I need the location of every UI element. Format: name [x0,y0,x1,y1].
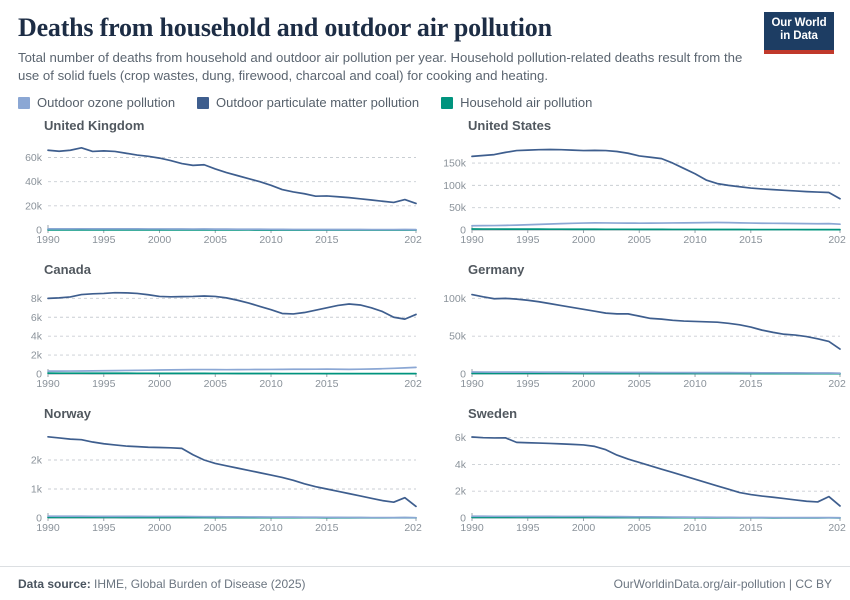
plot-area[interactable]: 050k100k1990199520002005201020152023 [434,279,846,391]
chart-panel-united-states: United States050k100k150k199019952000200… [434,116,846,260]
series-line [48,293,416,319]
x-axis-tick-label: 2005 [628,234,652,246]
series-line [48,229,416,230]
panel-title: United Kingdom [44,116,422,133]
plot-area[interactable]: 02k4k6k1990199520002005201020152023 [434,423,846,535]
series-line [48,367,416,371]
chart-legend: Outdoor ozone pollutionOutdoor particula… [0,85,850,114]
x-axis-tick-label: 2010 [259,234,283,246]
y-axis-tick-label: 150k [443,158,467,170]
x-axis-tick-label: 2000 [148,522,172,534]
x-axis-tick-label: 1990 [36,378,60,390]
y-axis-tick-label: 6k [31,312,43,324]
y-axis-tick-label: 50k [449,202,467,214]
y-axis-tick-label: 1k [31,484,43,496]
x-axis-tick-label: 2005 [204,234,228,246]
x-axis-tick-label: 1990 [36,522,60,534]
series-line [472,437,840,506]
x-axis-tick-label: 2023 [404,378,422,390]
x-axis-tick-label: 2023 [828,234,846,246]
x-axis-tick-label: 2000 [572,522,596,534]
attribution-link[interactable]: OurWorldinData.org/air-pollution | CC BY [614,577,832,591]
data-source-label: Data source: [18,577,91,591]
x-axis-tick-label: 2015 [315,378,339,390]
x-axis-tick-label: 1995 [92,522,116,534]
x-axis-tick-label: 2005 [628,522,652,534]
x-axis-tick-label: 2000 [572,378,596,390]
chart-panel-grid: United Kingdom020k40k60k1990199520002005… [0,114,850,548]
y-axis-tick-label: 100k [443,180,467,192]
y-axis-tick-label: 4k [455,459,467,471]
owid-logo[interactable]: Our World in Data [764,12,834,54]
x-axis-tick-label: 1995 [516,234,540,246]
legend-item-label: Outdoor ozone pollution [37,95,175,110]
x-axis-tick-label: 2023 [404,234,422,246]
y-axis-tick-label: 20k [25,200,43,212]
owid-logo-line1: Our World [764,17,834,30]
panel-title: Canada [44,260,422,277]
series-line [48,437,416,507]
series-line [472,150,840,199]
legend-swatch-icon [441,97,453,109]
legend-item[interactable]: Household air pollution [441,95,592,110]
x-axis-tick-label: 2000 [572,234,596,246]
x-axis-tick-label: 2000 [148,378,172,390]
plot-area[interactable]: 02k4k6k8k1990199520002005201020152023 [10,279,422,391]
chart-panel-sweden: Sweden02k4k6k199019952000200520102015202… [434,404,846,548]
x-axis-tick-label: 2015 [315,522,339,534]
y-axis-tick-label: 60k [25,152,43,164]
y-axis-tick-label: 100k [443,293,467,305]
plot-area[interactable]: 050k100k150k1990199520002005201020152023 [434,135,846,247]
chart-subtitle: Total number of deaths from household an… [18,49,763,85]
x-axis-tick-label: 2010 [683,378,707,390]
y-axis-tick-label: 2k [31,350,43,362]
chart-footer: Data source: IHME, Global Burden of Dise… [0,566,850,600]
x-axis-tick-label: 2005 [204,522,228,534]
series-line [472,223,840,226]
x-axis-tick-label: 2015 [315,234,339,246]
y-axis-tick-label: 8k [31,293,43,305]
chart-panel-united-kingdom: United Kingdom020k40k60k1990199520002005… [10,116,422,260]
legend-item[interactable]: Outdoor ozone pollution [18,95,175,110]
owid-logo-line2: in Data [764,30,834,43]
x-axis-tick-label: 1995 [516,522,540,534]
x-axis-tick-label: 2015 [739,378,763,390]
x-axis-tick-label: 2000 [148,234,172,246]
series-line [48,148,416,204]
page-title: Deaths from household and outdoor air po… [18,14,832,43]
data-source: Data source: IHME, Global Burden of Dise… [18,577,305,591]
x-axis-tick-label: 2010 [259,378,283,390]
series-line [472,295,840,349]
panel-title: Germany [468,260,846,277]
y-axis-tick-label: 40k [25,176,43,188]
x-axis-tick-label: 2015 [739,234,763,246]
plot-area[interactable]: 020k40k60k1990199520002005201020152023 [10,135,422,247]
series-line [48,373,416,374]
x-axis-tick-label: 2023 [404,522,422,534]
x-axis-tick-label: 1995 [516,378,540,390]
y-axis-tick-label: 6k [455,432,467,444]
chart-panel-canada: Canada02k4k6k8k1990199520002005201020152… [10,260,422,404]
x-axis-tick-label: 2015 [739,522,763,534]
x-axis-tick-label: 2023 [828,522,846,534]
legend-item-label: Outdoor particulate matter pollution [216,95,419,110]
plot-area[interactable]: 01k2k1990199520002005201020152023 [10,423,422,535]
x-axis-tick-label: 1990 [36,234,60,246]
y-axis-tick-label: 2k [31,455,43,467]
x-axis-tick-label: 1990 [460,234,484,246]
panel-title: Sweden [468,404,846,421]
legend-item-label: Household air pollution [460,95,592,110]
x-axis-tick-label: 2023 [828,378,846,390]
panel-title: United States [468,116,846,133]
x-axis-tick-label: 2005 [204,378,228,390]
x-axis-tick-label: 1990 [460,522,484,534]
y-axis-tick-label: 50k [449,331,467,343]
x-axis-tick-label: 2010 [683,234,707,246]
series-line [472,229,840,230]
x-axis-tick-label: 2010 [683,522,707,534]
chart-page: Deaths from household and outdoor air po… [0,0,850,600]
legend-item[interactable]: Outdoor particulate matter pollution [197,95,419,110]
legend-swatch-icon [18,97,30,109]
chart-header: Deaths from household and outdoor air po… [0,0,850,85]
data-source-text: IHME, Global Burden of Disease (2025) [94,577,305,591]
panel-title: Norway [44,404,422,421]
x-axis-tick-label: 1990 [460,378,484,390]
x-axis-tick-label: 1995 [92,378,116,390]
chart-panel-norway: Norway01k2k1990199520002005201020152023 [10,404,422,548]
chart-panel-germany: Germany050k100k1990199520002005201020152… [434,260,846,404]
x-axis-tick-label: 2010 [259,522,283,534]
y-axis-tick-label: 2k [455,486,467,498]
y-axis-tick-label: 4k [31,331,43,343]
legend-swatch-icon [197,97,209,109]
x-axis-tick-label: 2005 [628,378,652,390]
x-axis-tick-label: 1995 [92,234,116,246]
